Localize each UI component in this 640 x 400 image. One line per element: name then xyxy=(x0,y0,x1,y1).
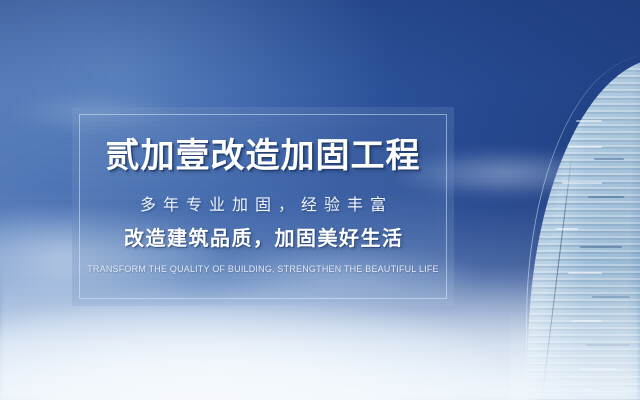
skyscraper-window-shade xyxy=(588,196,624,198)
banner-image: 贰加壹改造加固工程 多年专业加固，经验丰富 改造建筑品质，加固美好生活 TRAN… xyxy=(0,0,640,400)
skyscraper-window-highlight xyxy=(556,228,578,230)
slogan-chinese: 改造建筑品质，加固美好生活 xyxy=(72,229,454,249)
skyscraper-window-highlight xyxy=(568,146,602,148)
subtitle: 多年专业加固，经验丰富 xyxy=(72,198,454,214)
headline-panel: 贰加壹改造加固工程 多年专业加固，经验丰富 改造建筑品质，加固美好生活 TRAN… xyxy=(72,107,454,306)
skyscraper-window-shade xyxy=(580,246,622,248)
slogan-english: TRANSFORM THE QUALITY OF BUILDING, STREN… xyxy=(72,265,454,274)
skyscraper-window-shade xyxy=(594,158,624,160)
skyscraper-window-highlight xyxy=(576,120,602,122)
skyscraper-window-highlight xyxy=(562,182,602,184)
page-title: 贰加壹改造加固工程 xyxy=(72,139,454,173)
